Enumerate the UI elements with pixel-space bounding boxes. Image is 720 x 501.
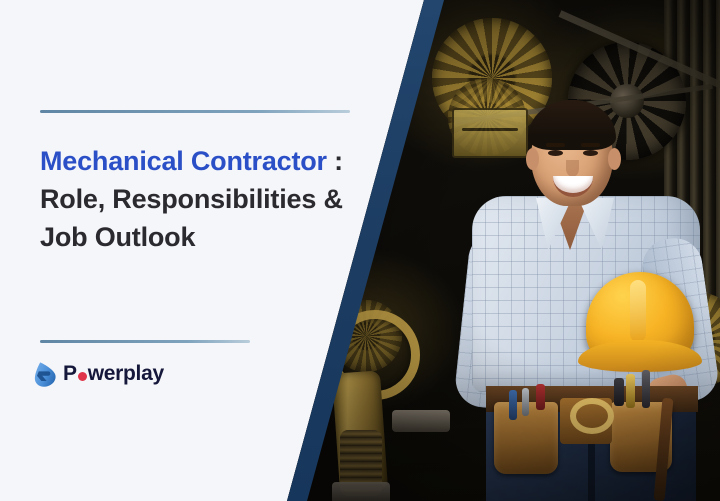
belt-tool (642, 370, 650, 408)
ear (526, 148, 539, 170)
eyebrow (546, 143, 565, 147)
belt-tool (626, 374, 635, 408)
eye (583, 150, 598, 156)
page-title: Mechanical Contractor : Role, Responsibi… (40, 142, 370, 256)
top-divider-rule (40, 110, 350, 113)
ear (608, 148, 621, 170)
hair (528, 100, 616, 150)
powerplay-logo[interactable]: Pwerplay (30, 360, 164, 388)
powerplay-wordmark: Pwerplay (63, 362, 164, 386)
jeans-seam (588, 436, 595, 501)
page-title-accent: Mechanical Contractor (40, 146, 327, 176)
eye (548, 150, 563, 156)
logo-word-rest: werplay (88, 362, 164, 386)
nose (566, 160, 579, 177)
belt-tool (536, 384, 545, 410)
blog-hero-banner: Mechanical Contractor : Role, Responsibi… (0, 0, 720, 501)
tape-measure (570, 398, 614, 434)
belt-tool (614, 378, 624, 406)
powerplay-droplet-icon (30, 360, 58, 388)
logo-red-dot (78, 372, 87, 381)
eyebrow (581, 143, 600, 147)
logo-letter-p: P (63, 362, 77, 386)
bottom-divider-rule (40, 340, 250, 343)
belt-tool (522, 388, 529, 416)
belt-tool (509, 390, 517, 420)
